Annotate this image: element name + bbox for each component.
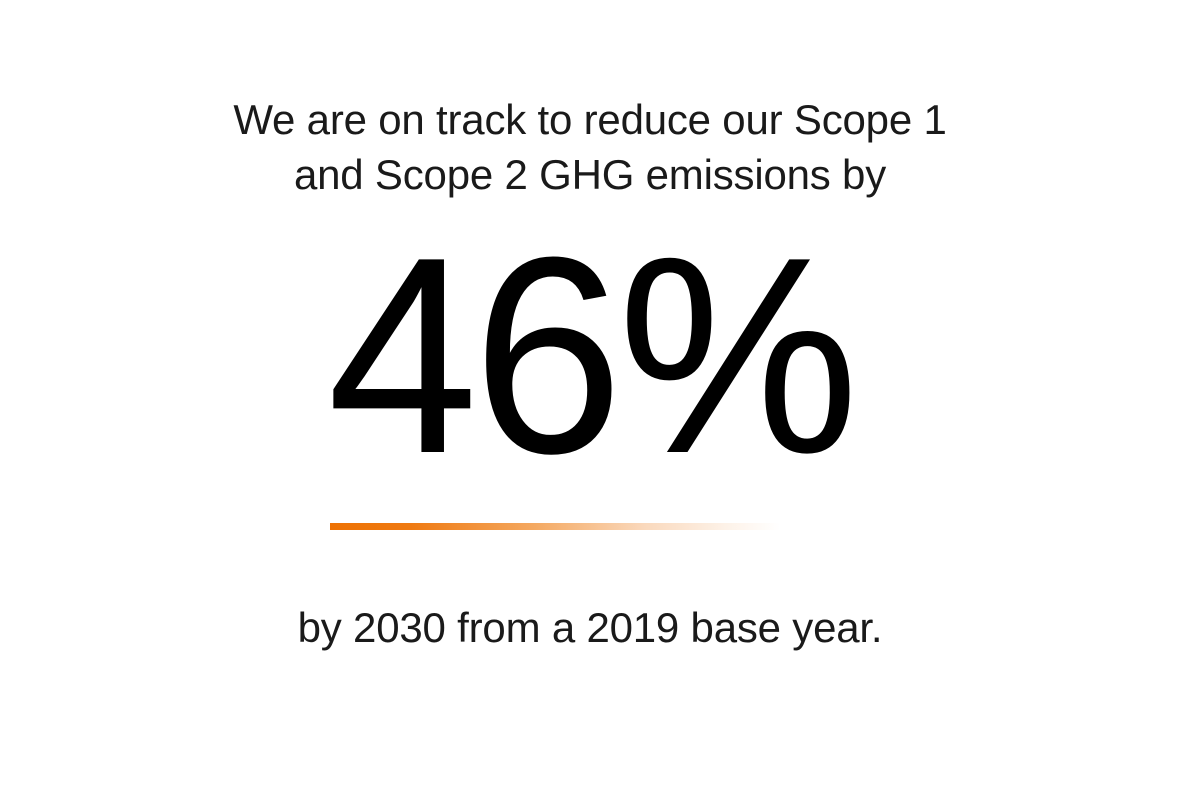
- headline: We are on track to reduce our Scope 1 an…: [230, 0, 950, 202]
- headline-line-1: We are on track to reduce our Scope 1: [230, 92, 950, 147]
- caption-text: by 2030 from a 2019 base year.: [210, 530, 970, 655]
- headline-statistic-value: 46%: [327, 236, 853, 477]
- headline-line-2: and Scope 2 GHG emissions by: [230, 147, 950, 202]
- figure-block: 46%: [330, 236, 850, 530]
- accent-gradient-rule: [330, 523, 780, 530]
- stat-callout-card: We are on track to reduce our Scope 1 an…: [0, 0, 1180, 790]
